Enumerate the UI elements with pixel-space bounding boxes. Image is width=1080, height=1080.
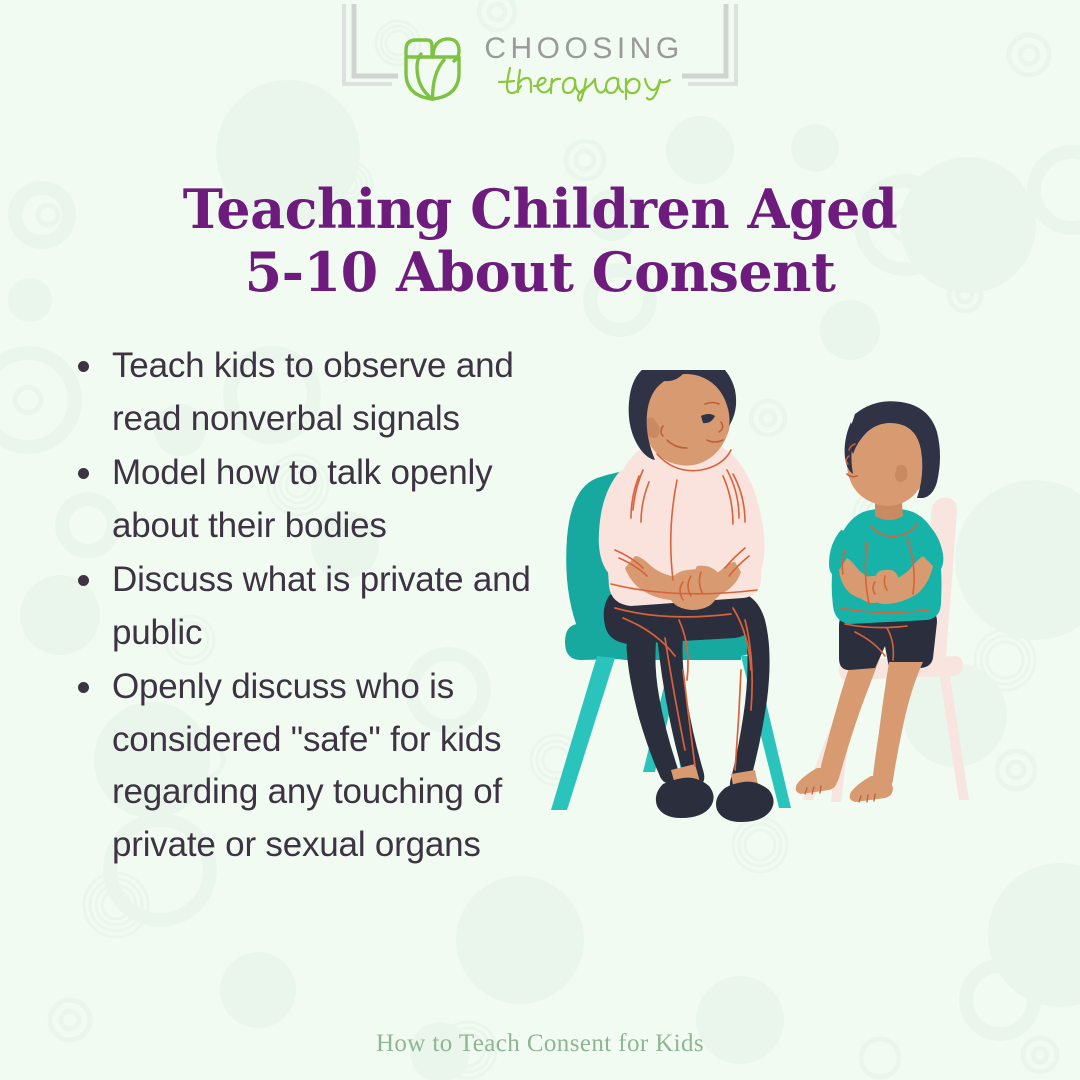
brand-logo: CHOOSING bbox=[0, 26, 1080, 110]
adult-figure bbox=[599, 370, 774, 822]
list-item: Model how to talk openly about their bod… bbox=[70, 447, 580, 552]
list-item-text: Openly discuss who is considered "safe" … bbox=[112, 667, 502, 864]
list-item-text: Model how to talk openly about their bod… bbox=[112, 453, 492, 545]
page-title: Teaching Children Aged 5-10 About Consen… bbox=[60, 178, 1020, 304]
tips-list: Teach kids to observe and read nonverbal… bbox=[70, 340, 580, 873]
list-item: Teach kids to observe and read nonverbal… bbox=[70, 340, 580, 445]
title-line-2: 5-10 About Consent bbox=[60, 241, 1020, 304]
adult-and-child-illustration bbox=[545, 370, 1065, 830]
list-item-text: Teach kids to observe and read nonverbal… bbox=[112, 346, 514, 438]
bullet-dot-icon bbox=[78, 575, 89, 586]
bullet-dot-icon bbox=[78, 361, 89, 372]
infographic-poster: CHOOSING bbox=[0, 0, 1080, 1080]
list-item-text: Discuss what is private and public bbox=[112, 560, 531, 652]
bullet-dot-icon bbox=[78, 682, 89, 693]
brand-name-script bbox=[496, 62, 671, 102]
title-line-1: Teaching Children Aged bbox=[60, 178, 1020, 241]
bullet-dot-icon bbox=[78, 468, 89, 479]
brand-name-top: CHOOSING bbox=[484, 34, 683, 64]
child-figure bbox=[796, 401, 944, 802]
lotus-leaf-icon bbox=[396, 33, 470, 103]
list-item: Openly discuss who is considered "safe" … bbox=[70, 661, 580, 871]
footer-caption: How to Teach Consent for Kids bbox=[0, 1030, 1080, 1058]
list-item: Discuss what is private and public bbox=[70, 554, 580, 659]
